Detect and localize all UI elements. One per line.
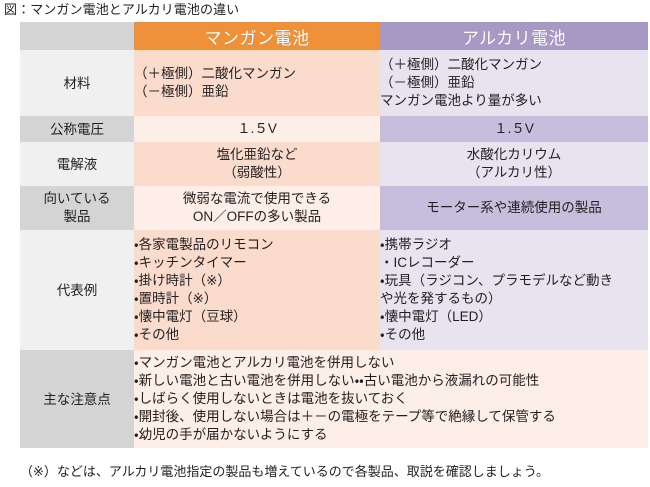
cell-manganese-suited-products: 微弱な電流で使用できる ON／OFFの多い製品 (134, 186, 380, 230)
cell-alkaline-electrolyte: 水酸化カリウム （アルカリ性） (380, 142, 648, 186)
list-item: ・幼児の手が届かないようにする (134, 426, 648, 444)
list-item: ・懐中電灯（豆球） (134, 308, 380, 326)
text-line: （－極側）亜鉛 (380, 74, 648, 92)
cell-manganese-electrolyte: 塩化亜鉛など （弱酸性） (134, 142, 380, 186)
row-label-material: 材料 (20, 50, 134, 116)
row-label-electrolyte: 電解液 (20, 142, 134, 186)
text-line: 向いている (20, 190, 134, 208)
text-line: マンガン電池より量が多い (380, 92, 648, 110)
cell-alkaline-suited-products: モーター系や連続使用の製品 (380, 186, 648, 230)
figure-caption: 図：マンガン電池とアルカリ電池の違い (4, 1, 239, 19)
cell-cautions-span: ・マンガン電池とアルカリ電池を併用しない ・新しい電池と古い電池を併用しない・・… (134, 350, 648, 448)
row-label-nominal-voltage: 公称電圧 (20, 116, 134, 142)
table-row-electrolyte: 電解液 塩化亜鉛など （弱酸性） 水酸化カリウム （アルカリ性） (20, 142, 648, 186)
header-alkaline: アルカリ電池 (380, 22, 648, 50)
text-line: （弱酸性） (134, 164, 380, 182)
table-row-cautions: 主な注意点 ・マンガン電池とアルカリ電池を併用しない ・新しい電池と古い電池を併… (20, 350, 648, 448)
cell-alkaline-examples: ・携帯ラジオ ・ICレコーダー ・玩具（ラジコン、プラモデルなど動き や光を発す… (380, 230, 648, 350)
list-item: ・マンガン電池とアルカリ電池を併用しない (134, 354, 648, 372)
table-header-row: マンガン電池 アルカリ電池 (20, 22, 648, 50)
cell-alkaline-nominal-voltage: １.５V (380, 116, 648, 142)
cell-alkaline-material: （＋極側）二酸化マンガン （－極側）亜鉛 マンガン電池より量が多い (380, 50, 648, 116)
cell-manganese-nominal-voltage: １.５V (134, 116, 380, 142)
cell-manganese-examples: ・各家電製品のリモコン ・キッチンタイマー ・掛け時計（※） ・置時計（※） ・… (134, 230, 380, 350)
text-line: 塩化亜鉛など (134, 146, 380, 164)
list-item: ・ICレコーダー (380, 254, 648, 272)
list-item: ・開封後、使用しない場合は＋－の電極をテープ等で絶縁して保管する (134, 408, 648, 426)
text-line: （＋極側）二酸化マンガン (134, 65, 380, 83)
text-line: （－極側）亜鉛 (134, 83, 380, 101)
comparison-table: マンガン電池 アルカリ電池 材料 （＋極側）二酸化マンガン （－極側）亜鉛 （＋… (20, 22, 648, 448)
row-label-suited-products: 向いている 製品 (20, 186, 134, 230)
text-line: 水酸化カリウム (380, 146, 648, 164)
list-item: ・携帯ラジオ (380, 236, 648, 254)
list-item: ・懐中電灯（LED） (380, 308, 648, 326)
list-item: ・しばらく使用しないときは電池を抜いておく (134, 390, 648, 408)
text-line: 製品 (20, 208, 134, 226)
list-item: ・各家電製品のリモコン (134, 236, 380, 254)
text-line: （＋極側）二酸化マンガン (380, 56, 648, 74)
figure-container: 図：マンガン電池とアルカリ電池の違い マンガン電池 アルカリ電池 材料 （＋極側… (0, 0, 650, 487)
table-row-nominal-voltage: 公称電圧 １.５V １.５V (20, 116, 648, 142)
list-item: ・キッチンタイマー (134, 254, 380, 272)
list-item: ・置時計（※） (134, 290, 380, 308)
header-manganese: マンガン電池 (134, 22, 380, 50)
figure-footnote: （※）などは、アルカリ電池指定の製品も増えているので各製品、取説を確認しましょう… (20, 463, 549, 481)
row-label-examples: 代表例 (20, 230, 134, 350)
row-label-cautions: 主な注意点 (20, 350, 134, 448)
table-row-examples: 代表例 ・各家電製品のリモコン ・キッチンタイマー ・掛け時計（※） ・置時計（… (20, 230, 648, 350)
text-line: ON／OFFの多い製品 (134, 208, 380, 226)
list-item: ・その他 (134, 326, 380, 344)
text-line: （アルカリ性） (380, 164, 648, 182)
list-item: ・その他 (380, 326, 648, 344)
list-item: ・玩具（ラジコン、プラモデルなど動き (380, 272, 648, 290)
list-item-continuation: や光を発するもの） (380, 290, 648, 308)
table-row-suited-products: 向いている 製品 微弱な電流で使用できる ON／OFFの多い製品 モーター系や連… (20, 186, 648, 230)
header-blank-cell (20, 22, 134, 50)
table-row-material: 材料 （＋極側）二酸化マンガン （－極側）亜鉛 （＋極側）二酸化マンガン （－極… (20, 50, 648, 116)
list-item: ・新しい電池と古い電池を併用しない・・古い電池から液漏れの可能性 (134, 372, 648, 390)
text-line: 微弱な電流で使用できる (134, 190, 380, 208)
list-item: ・掛け時計（※） (134, 272, 380, 290)
cell-manganese-material: （＋極側）二酸化マンガン （－極側）亜鉛 (134, 50, 380, 116)
